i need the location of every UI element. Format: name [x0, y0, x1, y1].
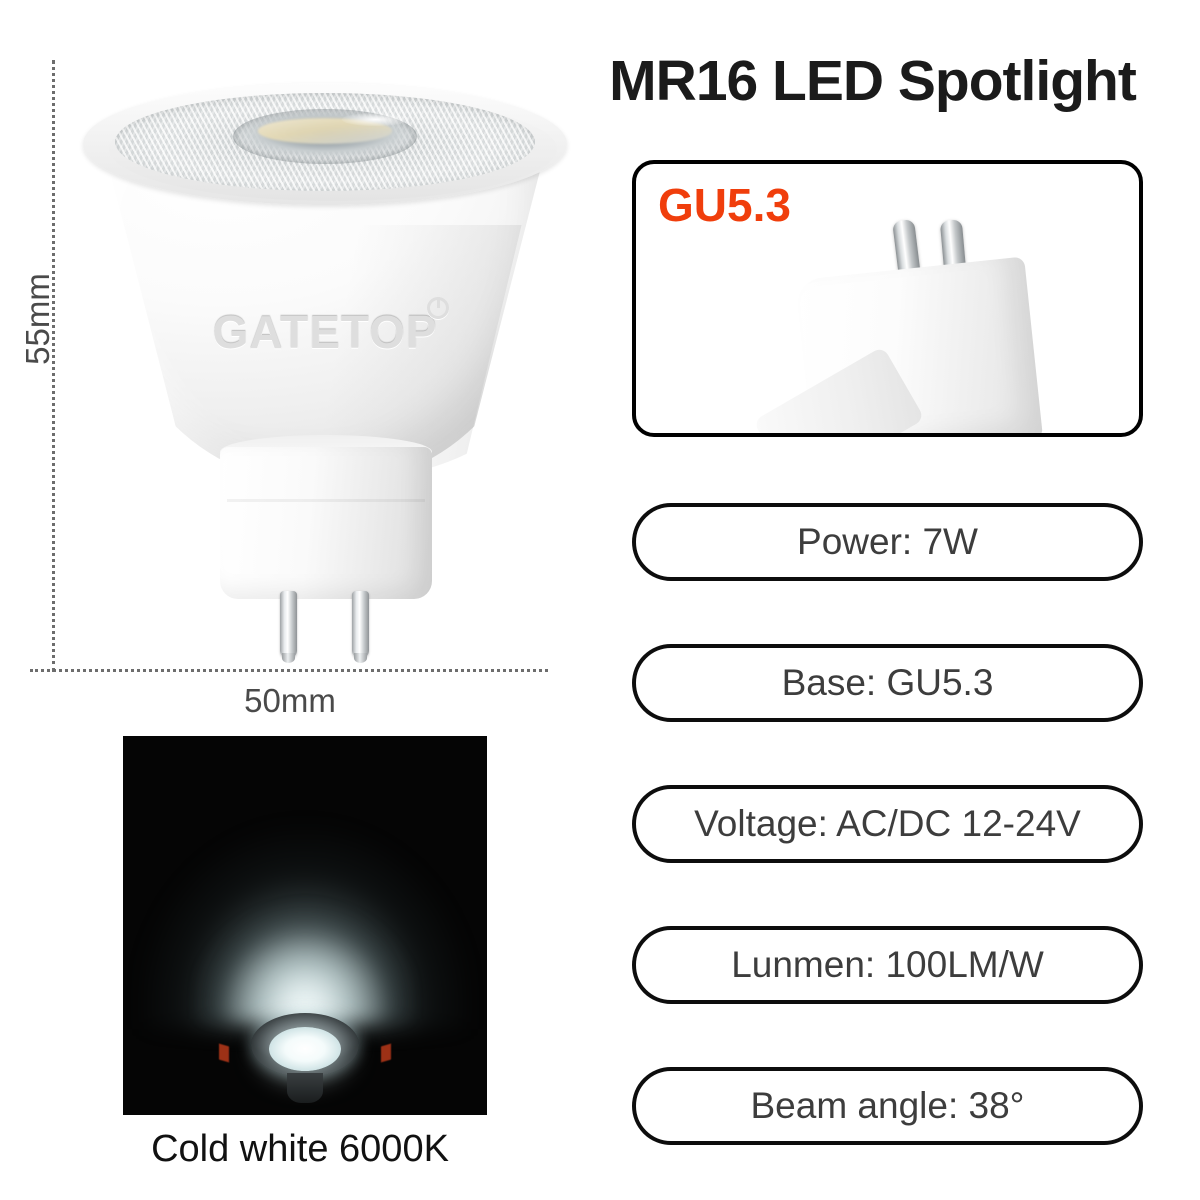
spec-pill-label: Lunmen: 100LM/W	[731, 944, 1044, 986]
spec-pill-label: Power: 7W	[797, 521, 978, 563]
product-dimension-panel: 55mm GATETOP 50mm	[0, 0, 600, 730]
fixture-lens	[269, 1027, 341, 1071]
width-dimension-line	[30, 669, 548, 672]
spec-pill-base: Base: GU5.3	[632, 644, 1143, 722]
brand-logo-text: GATETOP	[75, 305, 575, 359]
spec-pill-label: Beam angle: 38°	[751, 1085, 1025, 1127]
lamp-pin-left	[280, 591, 297, 659]
beam-photo-caption: Cold white 6000K	[0, 1128, 600, 1171]
lamp-pin-right	[352, 591, 369, 659]
spec-pill-voltage: Voltage: AC/DC 12-24V	[632, 785, 1143, 863]
width-dimension-label: 50mm	[180, 682, 400, 720]
light-beam-photo	[123, 736, 487, 1115]
lamp-base-seam	[227, 499, 425, 502]
spec-pill-label: Base: GU5.3	[782, 662, 994, 704]
gu53-badge-label: GU5.3	[658, 178, 791, 232]
product-infographic: 55mm GATETOP 50mm	[0, 0, 1200, 1200]
spec-pill-lumen: Lunmen: 100LM/W	[632, 926, 1143, 1004]
lamp-reflector	[115, 93, 535, 191]
height-dimension-label: 55mm	[19, 259, 57, 379]
mounting-clip-left	[219, 1044, 229, 1063]
reflector-glint	[342, 113, 409, 127]
spec-pill-power: Power: 7W	[632, 503, 1143, 581]
fixture-stem	[287, 1073, 323, 1103]
mr16-lamp-image: GATETOP	[75, 75, 575, 655]
lamp-gu-base	[220, 447, 432, 599]
spec-pill-label: Voltage: AC/DC 12-24V	[694, 803, 1081, 845]
spec-pill-beam-angle: Beam angle: 38°	[632, 1067, 1143, 1145]
gu53-base-card: GU5.3	[632, 160, 1143, 437]
page-title: MR16 LED Spotlight	[560, 48, 1185, 114]
power-symbol-icon	[427, 297, 449, 319]
mounting-clip-right	[381, 1044, 391, 1063]
beam-cone-inner	[200, 839, 410, 1019]
